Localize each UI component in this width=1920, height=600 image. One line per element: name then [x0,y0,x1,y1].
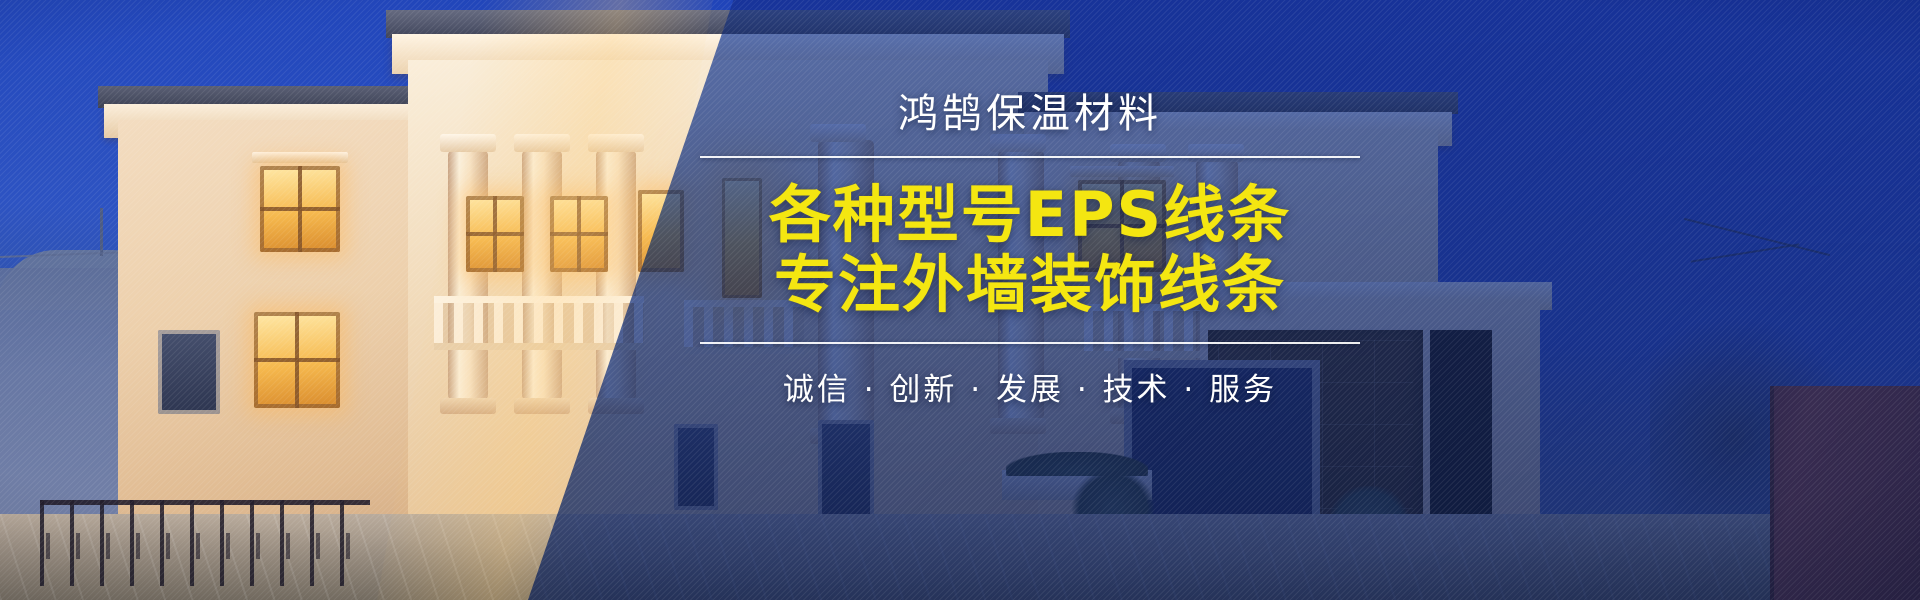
antenna-mast [100,208,103,256]
window-hood [252,152,348,163]
brand-name: 鸿鹄保温材料 [700,92,1360,136]
iron-railing [40,500,370,586]
divider-bottom [700,342,1360,344]
lit-window [466,196,524,272]
lit-window [550,196,608,272]
lit-window [254,312,340,408]
lit-window [260,166,340,252]
dark-window [158,330,220,414]
headline-line-1: 各种型号EPS线条 [769,178,1291,251]
portico-column [448,150,488,400]
banner-copy: 鸿鹄保温材料 各种型号EPS线条 专注外墙装饰线条 诚信 · 创新 · 发展 ·… [700,92,1360,409]
divider-top [700,156,1360,158]
portico-column [522,150,562,400]
promo-banner: 鸿鹄保温材料 各种型号EPS线条 专注外墙装饰线条 诚信 · 创新 · 发展 ·… [0,0,1920,600]
balustrade [434,296,644,350]
tagline: 诚信 · 创新 · 发展 · 技术 · 服务 [700,364,1360,409]
headline: 各种型号EPS线条 专注外墙装饰线条 [700,180,1360,320]
headline-line-2: 专注外墙装饰线条 [700,250,1360,320]
